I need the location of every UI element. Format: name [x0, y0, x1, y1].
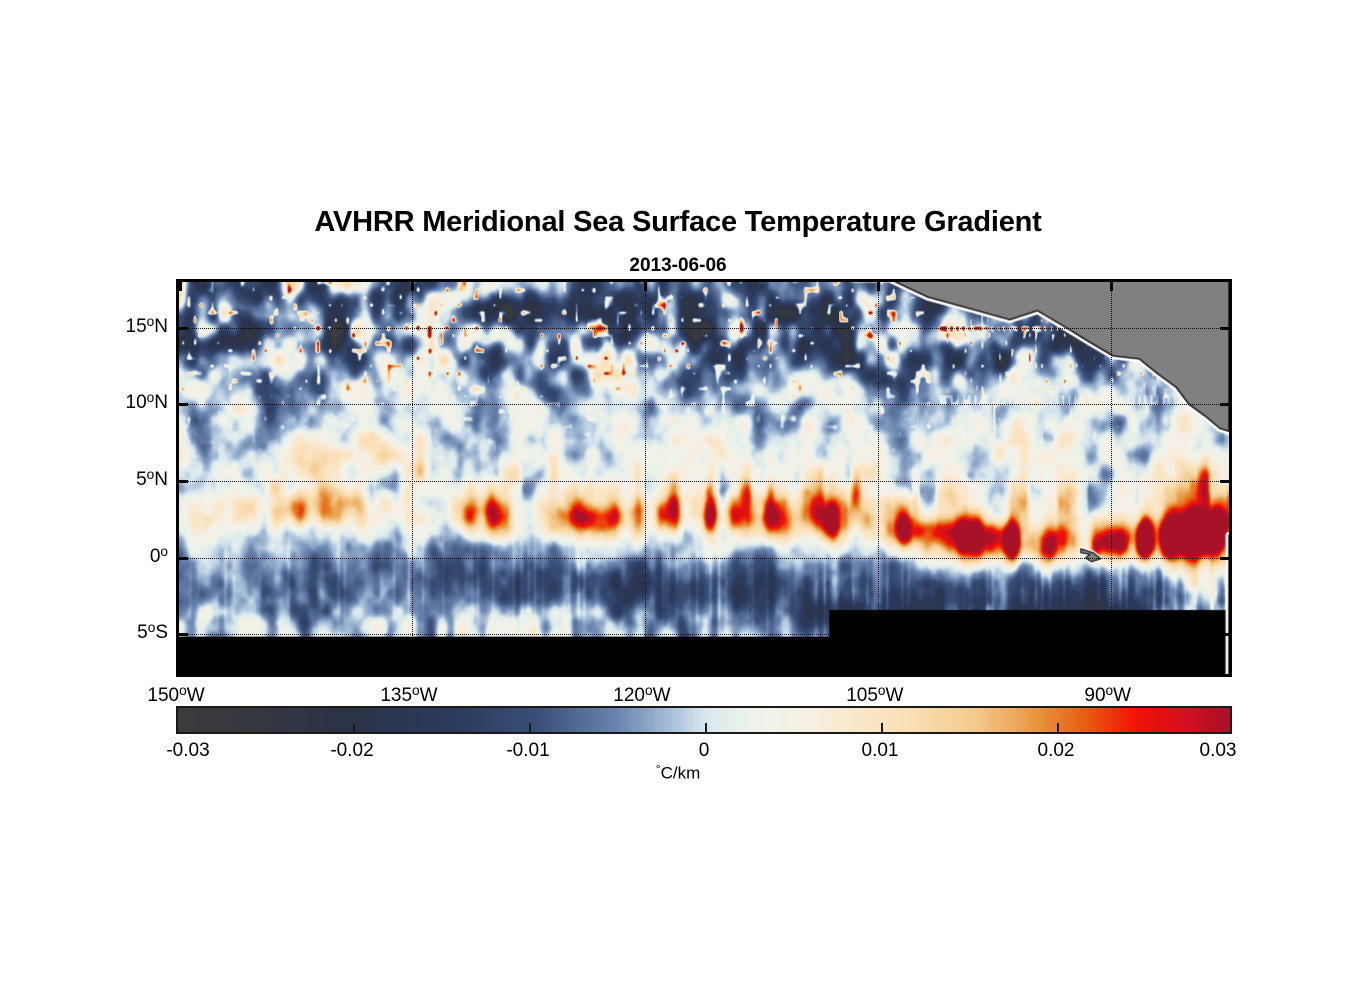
colorbar-tick-label-0.03: 0.03	[1200, 740, 1237, 762]
x-tick-label-105°W: 105oW	[846, 684, 903, 705]
colorbar-tick-label--0.01: -0.01	[506, 740, 549, 762]
sst-gradient-heatmap	[179, 282, 1229, 674]
colorbar-tick-mark	[353, 723, 355, 732]
x-tick-mark	[179, 665, 182, 674]
x-tick-mark	[877, 665, 880, 674]
y-tick-mark	[179, 557, 188, 560]
colorbar-tick-label-0.01: 0.01	[862, 740, 899, 762]
colorbar[interactable]	[176, 706, 1232, 734]
y-tick-mark	[1220, 480, 1229, 483]
x-tick-mark	[411, 665, 414, 674]
y-tick-mark	[1220, 633, 1229, 636]
colorbar-tick-label--0.02: -0.02	[330, 740, 373, 762]
figure-subtitle: 2013-06-06	[0, 255, 1356, 277]
colorbar-gradient	[178, 708, 1230, 732]
page-title: AVHRR Meridional Sea Surface Temperature…	[0, 206, 1356, 239]
y-tick-mark	[179, 480, 188, 483]
y-tick-mark	[1220, 557, 1229, 560]
colorbar-tick-label-0.02: 0.02	[1038, 740, 1075, 762]
colorbar-tick-label--0.03: -0.03	[166, 740, 209, 762]
y-tick-mark	[1220, 403, 1229, 406]
x-tick-mark	[1110, 282, 1113, 291]
x-tick-mark	[411, 282, 414, 291]
x-tick-mark	[179, 282, 182, 291]
colorbar-units-label: °C/km	[0, 762, 1356, 784]
colorbar-tick-mark	[529, 723, 531, 732]
colorbar-tick-mark	[1057, 723, 1059, 732]
x-tick-mark	[644, 282, 647, 291]
figure-canvas: AVHRR Meridional Sea Surface Temperature…	[0, 0, 1356, 1000]
y-tick-label-15°N: 15oN	[126, 315, 168, 336]
x-tick-label-150°W: 150oW	[147, 684, 204, 705]
x-tick-mark	[1110, 665, 1113, 674]
x-tick-mark	[877, 282, 880, 291]
y-tick-label-5°S: 5oS	[137, 621, 168, 642]
y-tick-mark	[1220, 327, 1229, 330]
y-tick-label-10°N: 10oN	[126, 391, 168, 412]
y-tick-label-0°: 0o	[150, 545, 168, 566]
y-tick-mark	[179, 633, 188, 636]
colorbar-tick-mark	[705, 723, 707, 732]
y-tick-label-5°N: 5oN	[136, 468, 168, 489]
y-tick-mark	[179, 327, 188, 330]
x-tick-label-90°W: 90oW	[1084, 684, 1131, 705]
x-tick-label-120°W: 120oW	[613, 684, 670, 705]
colorbar-tick-mark	[881, 723, 883, 732]
x-tick-label-135°W: 135oW	[380, 684, 437, 705]
colorbar-tick-label-0: 0	[699, 740, 710, 762]
x-tick-mark	[644, 665, 647, 674]
y-tick-mark	[179, 403, 188, 406]
map-plot-area[interactable]	[176, 279, 1232, 677]
